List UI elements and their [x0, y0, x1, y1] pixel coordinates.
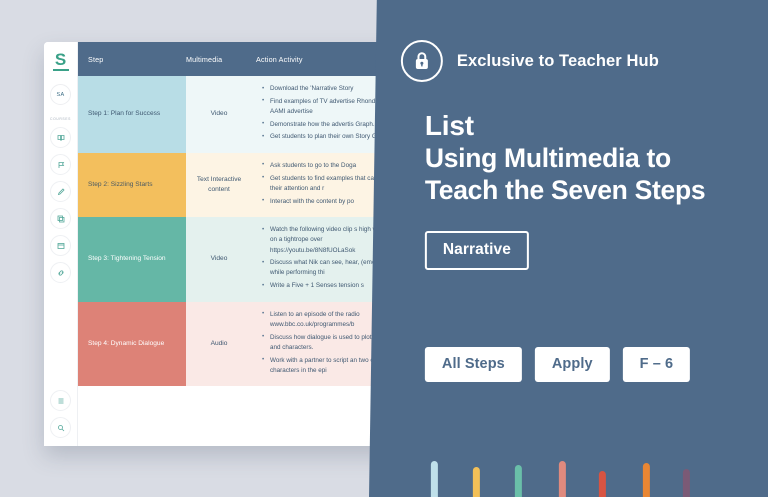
table-header-row: Step Multimedia Action Activity: [78, 42, 404, 76]
brand-logo-letter: S: [55, 52, 66, 68]
sidebar-item-copy[interactable]: [50, 208, 71, 229]
decorative-stroke: [643, 463, 650, 497]
brand-logo[interactable]: S: [49, 48, 73, 74]
decorative-stroke: [683, 469, 690, 497]
title-line-2: Teach the Seven Steps: [425, 175, 705, 207]
sidebar-item-link[interactable]: [50, 262, 71, 283]
column-header-multimedia: Multimedia: [186, 55, 252, 64]
filter-pill[interactable]: Apply: [535, 347, 610, 382]
copy-icon: [57, 215, 65, 223]
window-icon: [57, 242, 65, 250]
book-icon: [57, 134, 65, 142]
lesson-table: Step Multimedia Action Activity Step 1: …: [78, 42, 404, 446]
decorative-stroke: [473, 467, 480, 497]
lock-icon: [401, 40, 443, 82]
filter-pill-row: All StepsApplyF – 6: [425, 347, 690, 382]
sidebar-item-list[interactable]: [50, 390, 71, 411]
title-line-1: Using Multimedia to: [425, 143, 705, 175]
sidebar-section-label: COURSES: [50, 117, 71, 121]
exclusive-badge-label: Exclusive to Teacher Hub: [457, 52, 659, 71]
cell-multimedia: Text Interactive content: [186, 153, 252, 217]
flag-icon: [57, 161, 65, 169]
list-icon: [57, 397, 65, 405]
table-row: Step 4: Dynamic DialogueAudioListen to a…: [78, 302, 404, 387]
app-window: S SA COURSES: [44, 42, 404, 446]
cell-step: Step 4: Dynamic Dialogue: [78, 302, 186, 387]
decorative-stroke: [431, 461, 438, 497]
page-title: List Using Multimedia to Teach the Seven…: [425, 110, 705, 206]
decorative-strokes: [431, 449, 768, 497]
cell-multimedia: Video: [186, 76, 252, 153]
sidebar-item-book[interactable]: [50, 127, 71, 148]
sidebar-item-search[interactable]: [50, 417, 71, 438]
table-row: Step 3: Tightening TensionVideoWatch the…: [78, 217, 404, 302]
cell-step: Step 1: Plan for Success: [78, 76, 186, 153]
sidebar-item-flag[interactable]: [50, 154, 71, 175]
cell-multimedia: Audio: [186, 302, 252, 387]
pencil-icon: [57, 188, 65, 196]
search-icon: [57, 424, 65, 432]
filter-pill[interactable]: F – 6: [623, 347, 691, 382]
app-sidebar: S SA COURSES: [44, 42, 78, 446]
table-row: Step 2: Sizzling StartsText Interactive …: [78, 153, 404, 217]
decorative-stroke: [515, 465, 522, 497]
title-kind: List: [425, 110, 705, 143]
exclusive-badge: Exclusive to Teacher Hub: [401, 40, 659, 82]
avatar-initials: SA: [57, 92, 65, 98]
table-row: Step 1: Plan for SuccessVideoDownload th…: [78, 76, 404, 153]
brand-logo-underline: [53, 69, 69, 71]
decorative-stroke: [559, 461, 566, 497]
column-header-step: Step: [78, 55, 186, 64]
cell-multimedia: Video: [186, 217, 252, 302]
table-body: Step 1: Plan for SuccessVideoDownload th…: [78, 76, 404, 386]
filter-pill[interactable]: All Steps: [425, 347, 522, 382]
avatar[interactable]: SA: [50, 84, 71, 105]
overlay-panel-content: Exclusive to Teacher Hub List Using Mult…: [373, 0, 768, 497]
cell-step: Step 3: Tightening Tension: [78, 217, 186, 302]
sidebar-item-window[interactable]: [50, 235, 71, 256]
decorative-stroke: [599, 471, 606, 497]
tag-narrative[interactable]: Narrative: [425, 231, 529, 270]
cell-step: Step 2: Sizzling Starts: [78, 153, 186, 217]
screenshot-root: S SA COURSES: [0, 0, 768, 497]
sidebar-item-pencil[interactable]: [50, 181, 71, 202]
link-icon: [57, 269, 65, 277]
overlay-panel: Exclusive to Teacher Hub List Using Mult…: [369, 0, 768, 497]
